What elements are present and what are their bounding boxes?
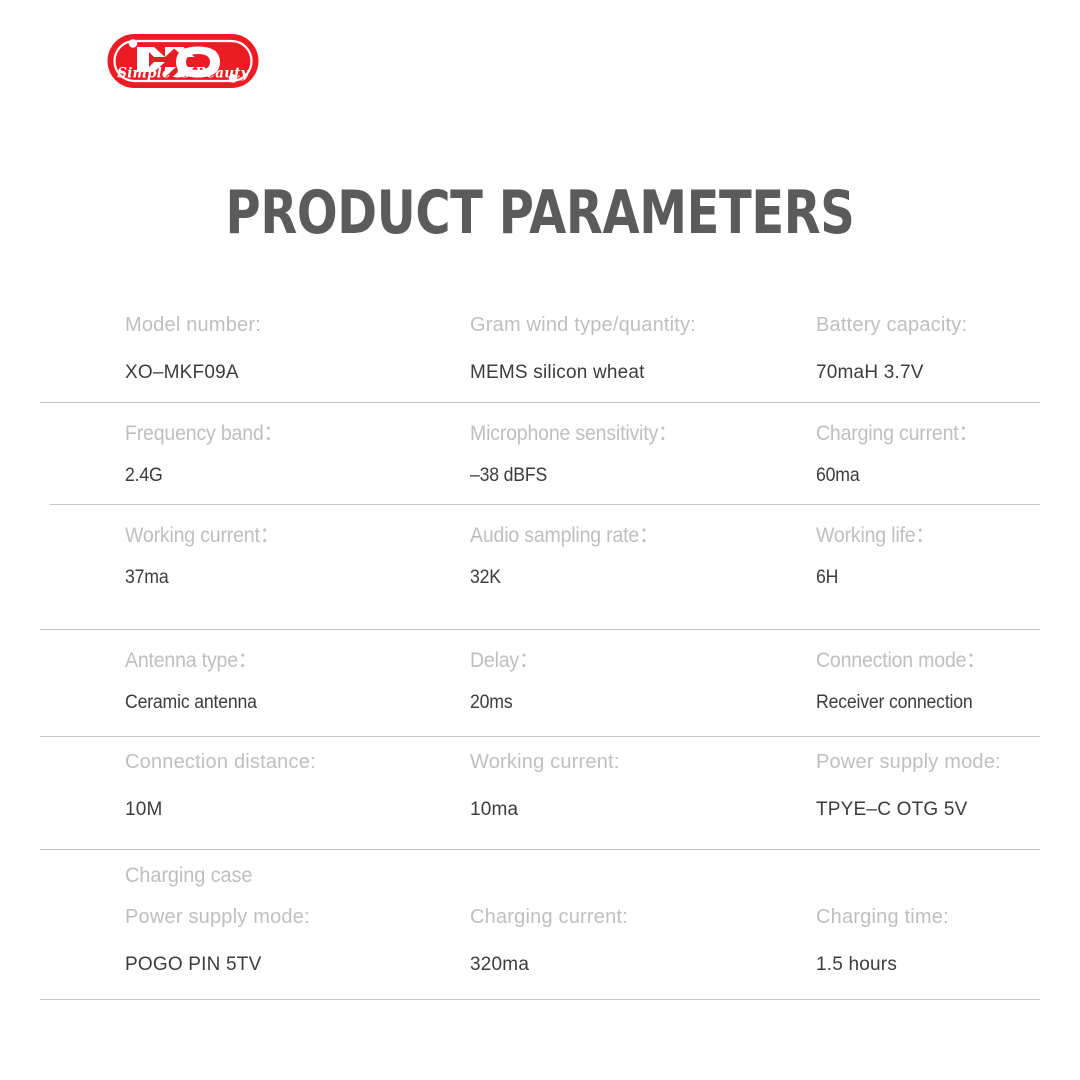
spec-value: 32K	[470, 567, 501, 589]
spec-value: MEMS silicon wheat	[470, 362, 645, 384]
spec-value: 6H	[816, 567, 838, 589]
spec-label: Connection distance:	[125, 751, 316, 774]
table-row: Frequency band： 2.4G Microphone sensitiv…	[40, 403, 1040, 505]
spec-label: Charging time:	[816, 906, 949, 929]
spec-label: Power supply mode:	[816, 751, 1001, 774]
row-divider	[40, 999, 1040, 1000]
spec-value: 10ma	[470, 799, 518, 821]
spec-label: Delay：	[470, 644, 538, 674]
table-row: Connection distance: 10M Working current…	[40, 737, 1040, 850]
spec-label: Charging current:	[470, 906, 628, 929]
spec-label: Battery capacity:	[816, 314, 967, 337]
spec-label: Gram wind type/quantity:	[470, 314, 696, 337]
xo-logo-icon: Simple Is Beauty	[106, 30, 260, 92]
spec-value: 60ma	[816, 465, 859, 487]
spec-label: Model number:	[125, 314, 261, 337]
spec-label: Working current:	[470, 751, 620, 774]
spec-value: –38 dBFS	[470, 465, 547, 487]
spec-value: 1.5 hours	[816, 954, 897, 976]
spec-label: Frequency band：	[125, 417, 283, 447]
spec-label: Charging current：	[816, 417, 978, 447]
svg-text:Simple Is Beauty: Simple Is Beauty	[117, 66, 249, 82]
spec-value: TPYE–C OTG 5V	[816, 799, 967, 821]
spec-label: Connection mode：	[816, 644, 986, 674]
spec-label: Working life：	[816, 519, 935, 549]
table-row: Charging case Power supply mode: POGO PI…	[40, 850, 1040, 1000]
table-row: Antenna type： Ceramic antenna Delay： 20m…	[40, 630, 1040, 737]
spec-value: 10M	[125, 799, 163, 821]
page-title: PRODUCT PARAMETERS	[108, 178, 972, 248]
spec-value: Ceramic antenna	[125, 692, 257, 714]
spec-value: 70maH 3.7V	[816, 362, 924, 384]
spec-label: Power supply mode:	[125, 906, 310, 929]
spec-label: Microphone sensitivity：	[470, 417, 677, 447]
spec-value: Receiver connection	[816, 692, 973, 714]
spec-label: Audio sampling rate：	[470, 519, 658, 549]
spec-value: 320ma	[470, 954, 529, 976]
table-row: Working current： 37ma Audio sampling rat…	[40, 505, 1040, 630]
brand-logo: Simple Is Beauty	[106, 30, 260, 92]
spec-value: 37ma	[125, 567, 168, 589]
spec-value: XO–MKF09A	[125, 362, 239, 384]
spec-value: 2.4G	[125, 465, 163, 487]
spec-label: Working current：	[125, 519, 279, 549]
table-row: Model number: XO–MKF09A Gram wind type/q…	[40, 300, 1040, 403]
spec-label: Antenna type：	[125, 644, 257, 674]
product-parameters-table: Model number: XO–MKF09A Gram wind type/q…	[40, 300, 1040, 1000]
spec-value: POGO PIN 5TV	[125, 954, 262, 976]
spec-value: 20ms	[470, 692, 512, 714]
